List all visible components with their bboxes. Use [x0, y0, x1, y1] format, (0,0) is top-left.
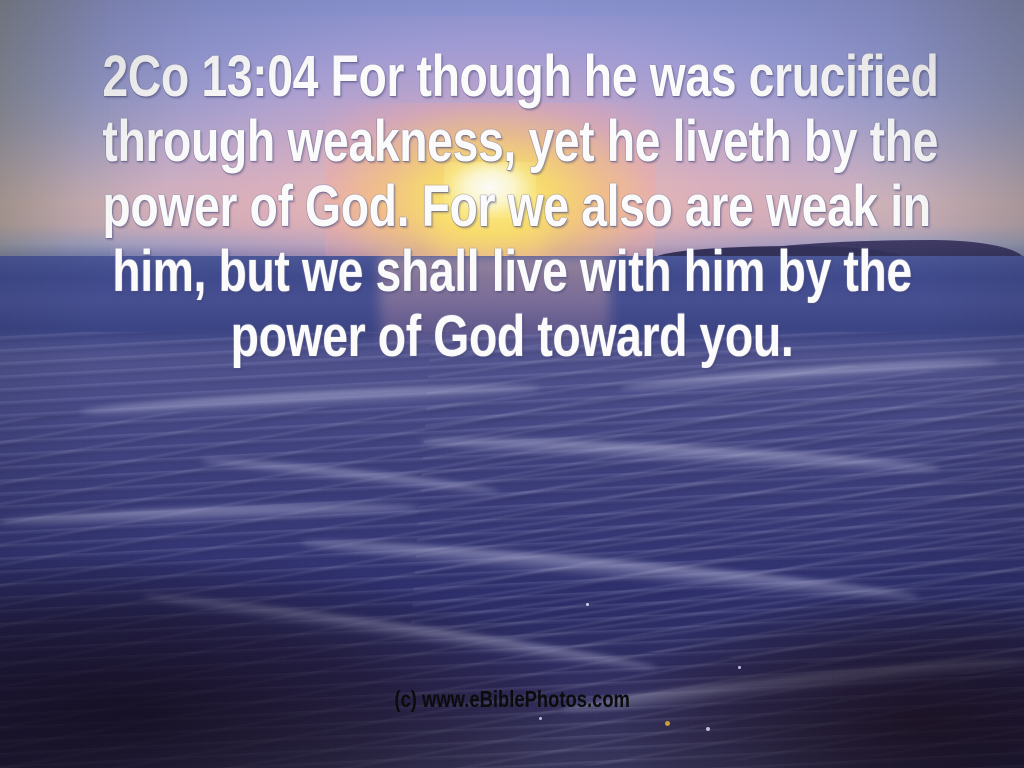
snow-speck [706, 727, 710, 731]
verse-photo: 2Co 13:04 For though he was crucified th… [0, 0, 1024, 768]
snow-speck [539, 717, 542, 720]
verse-line-5: power of God toward you. [102, 304, 921, 369]
snow-speck [665, 721, 670, 726]
verse-line-1: 2Co 13:04 For though he was crucified [102, 44, 921, 109]
snow-shadow-left [0, 560, 620, 768]
verse-line-3: power of God. For we also are weak in [102, 174, 921, 239]
verse-line-2: through weakness, yet he liveth by the [102, 109, 921, 174]
watermark-text: (c) www.eBiblePhotos.com [394, 688, 629, 711]
watermark: (c) www.eBiblePhotos.com [0, 688, 1024, 712]
snow-speck [738, 666, 741, 669]
snow-shadow-right [624, 600, 1024, 768]
snow-speck [586, 603, 589, 606]
verse-line-4: him, but we shall live with him by the [102, 239, 921, 304]
verse-text-block: 2Co 13:04 For though he was crucified th… [0, 44, 1024, 369]
